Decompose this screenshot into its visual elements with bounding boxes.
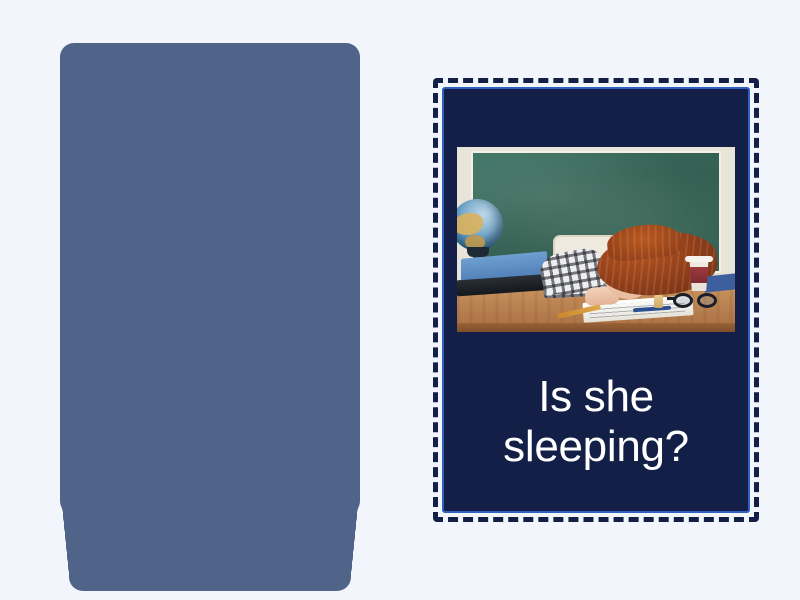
- card-deck[interactable]: [60, 43, 360, 551]
- flashcard[interactable]: Is she sleeping?: [433, 78, 759, 522]
- glasses-right-lens: [697, 293, 717, 308]
- globe-stand: [467, 247, 489, 257]
- flashcard-inner: Is she sleeping?: [442, 87, 750, 513]
- glasses-left-lens: [673, 293, 693, 308]
- blue-folder: [705, 273, 735, 292]
- deck-top-card[interactable]: [60, 43, 360, 515]
- flashcard-image: [457, 147, 735, 332]
- flashcard-caption: Is she sleeping?: [444, 332, 748, 511]
- cup-lid: [685, 256, 713, 262]
- flashcard-caption-text: Is she sleeping?: [460, 372, 732, 471]
- flashcard-stage: Is she sleeping?: [0, 0, 800, 600]
- eraser: [654, 295, 663, 308]
- glasses-bridge: [667, 297, 675, 300]
- desk-edge: [457, 323, 735, 332]
